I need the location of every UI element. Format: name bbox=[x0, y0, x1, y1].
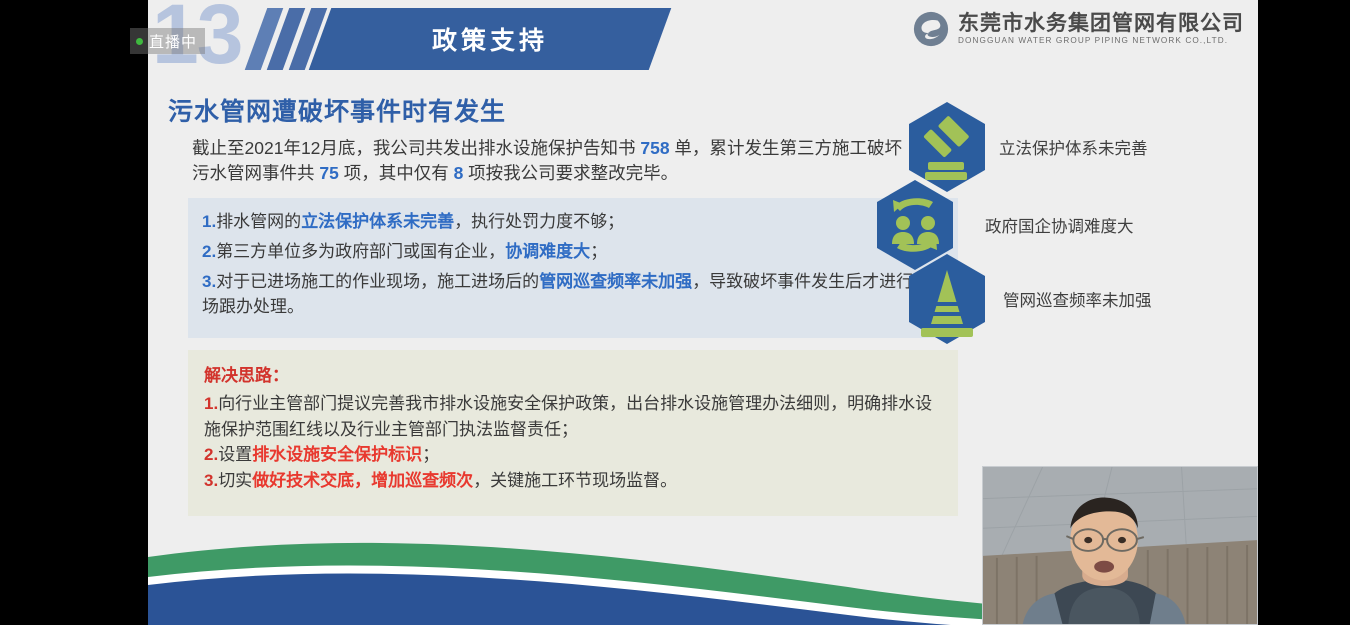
issue-highlight: 管网巡查频率未加强 bbox=[539, 272, 692, 291]
issue-text-post: ； bbox=[590, 242, 607, 261]
presenter-video-frame bbox=[983, 467, 1257, 624]
solution-item: 1.向行业主管部门提议完善我市排水设施安全保护政策，出台排水设施管理办法细则，明… bbox=[204, 391, 942, 442]
traffic-cone-icon bbox=[905, 252, 989, 346]
issue-number: 3. bbox=[202, 272, 216, 291]
lead-number-1: 758 bbox=[640, 138, 669, 158]
logo-text-block: 东莞市水务集团管网有限公司 DONGGUAN WATER GROUP PIPIN… bbox=[958, 13, 1244, 46]
solution-text-pre: 向行业主管部门提议完善我市排水设施安全保护政策，出台排水设施管理办法细则，明确排… bbox=[204, 394, 932, 439]
solution-text-post: ，关键施工环节现场监督。 bbox=[473, 471, 677, 490]
hexagon-label: 管网巡查频率未加强 bbox=[1003, 287, 1152, 311]
issue-highlight: 协调难度大 bbox=[505, 242, 590, 261]
solution-text-post: ； bbox=[422, 445, 439, 464]
issue-text-pre: 排水管网的 bbox=[216, 212, 301, 231]
solution-text-pre: 设置 bbox=[218, 445, 252, 464]
solution-number: 1. bbox=[204, 394, 218, 413]
water-swirl-icon bbox=[912, 10, 950, 48]
header-banner-title: 政策支持 bbox=[320, 8, 660, 70]
issue-number: 1. bbox=[202, 212, 216, 231]
hexagon-row: 管网巡查频率未加强 bbox=[905, 252, 1152, 346]
solution-text-pre: 切实 bbox=[218, 471, 252, 490]
solution-number: 3. bbox=[204, 471, 218, 490]
hexagon-label: 政府国企协调难度大 bbox=[985, 213, 1134, 237]
logo-chinese-name: 东莞市水务集团管网有限公司 bbox=[958, 13, 1244, 35]
solution-heading: 解决思路： bbox=[204, 361, 942, 386]
solution-number: 2. bbox=[204, 445, 218, 464]
live-dot-icon bbox=[136, 38, 143, 45]
issue-text-pre: 对于已进场施工的作业现场，施工进场后的 bbox=[216, 272, 539, 291]
solution-item: 2.设置排水设施安全保护标识； bbox=[204, 442, 942, 468]
section-title: 污水管网遭破坏事件时有发生 bbox=[168, 92, 506, 128]
lead-paragraph: 截止至2021年12月底，我公司共发出排水设施保护告知书 758 单，累计发生第… bbox=[192, 136, 902, 186]
hexagon-icon-column: 立法保护体系未完善 政府国企协调难度大 bbox=[873, 100, 1253, 340]
live-badge-label: 直播中 bbox=[149, 31, 197, 52]
issue-item: 1.排水管网的立法保护体系未完善，执行处罚力度不够； bbox=[202, 210, 944, 235]
video-player-stage: 直播中 13 政策支持 东莞市水务集团管网有限公司 DONGGUAN WATER… bbox=[0, 0, 1350, 625]
issue-text-pre: 第三方单位多为政府部门或国有企业， bbox=[216, 242, 505, 261]
lead-number-3: 8 bbox=[454, 163, 464, 183]
issue-item: 2.第三方单位多为政府部门或国有企业，协调难度大； bbox=[202, 240, 944, 265]
live-badge: 直播中 bbox=[130, 28, 205, 54]
issues-box: 1.排水管网的立法保护体系未完善，执行处罚力度不够； 2.第三方单位多为政府部门… bbox=[188, 198, 958, 338]
solution-highlight: 排水设施安全保护标识 bbox=[252, 445, 422, 464]
issue-item: 3.对于已进场施工的作业现场，施工进场后的管网巡查频率未加强，导致破坏事件发生后… bbox=[202, 270, 944, 320]
solution-highlight: 做好技术交底，增加巡查频次 bbox=[252, 471, 473, 490]
solution-box: 解决思路： 1.向行业主管部门提议完善我市排水设施安全保护政策，出台排水设施管理… bbox=[188, 350, 958, 516]
lead-part-3: 项，其中仅有 bbox=[339, 163, 454, 183]
lead-part-4: 项按我公司要求整改完毕。 bbox=[463, 163, 678, 183]
hexagon-label: 立法保护体系未完善 bbox=[999, 135, 1148, 159]
issue-number: 2. bbox=[202, 242, 216, 261]
lead-number-2: 75 bbox=[319, 163, 338, 183]
solution-item: 3.切实做好技术交底，增加巡查频次，关键施工环节现场监督。 bbox=[204, 468, 942, 494]
company-logo: 东莞市水务集团管网有限公司 DONGGUAN WATER GROUP PIPIN… bbox=[912, 10, 1244, 48]
issue-text-post: ，执行处罚力度不够； bbox=[454, 212, 624, 231]
issue-highlight: 立法保护体系未完善 bbox=[301, 212, 454, 231]
logo-english-name: DONGGUAN WATER GROUP PIPING NETWORK CO.,… bbox=[958, 37, 1244, 46]
presenter-webcam-overlay[interactable] bbox=[982, 466, 1258, 625]
lead-part-1: 截止至2021年12月底，我公司共发出排水设施保护告知书 bbox=[192, 138, 640, 158]
